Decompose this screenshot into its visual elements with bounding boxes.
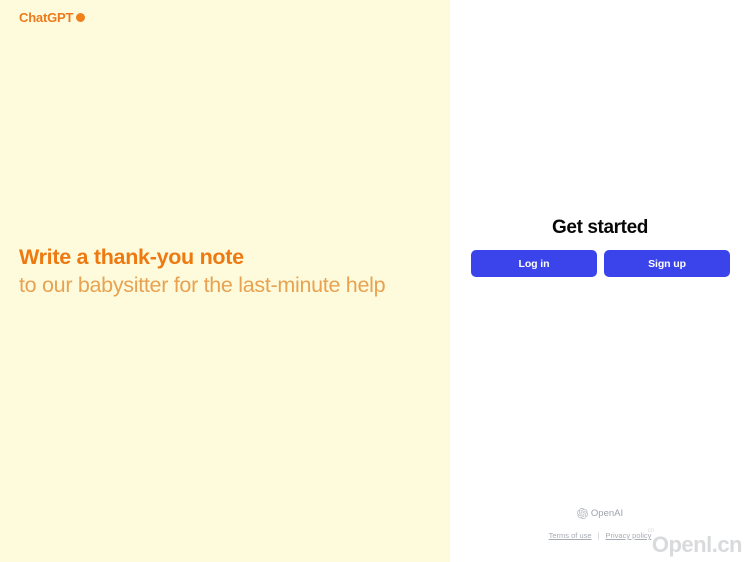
terms-of-use-link[interactable]: Terms of use: [549, 531, 592, 540]
orange-dot-icon: [76, 13, 85, 22]
chatgpt-welcome-screen: ChatGPT Write a thank-you note to our ba…: [0, 0, 750, 562]
chatgpt-wordmark: ChatGPT: [19, 11, 73, 24]
page-title: Get started: [450, 216, 750, 240]
login-button[interactable]: Log in: [471, 250, 597, 277]
legal-links: Terms of use | Privacy policy: [450, 531, 750, 540]
legal-separator: |: [598, 531, 600, 540]
auth-button-group: Log in Sign up: [471, 250, 730, 277]
openai-branding: OpenAI: [450, 508, 750, 519]
privacy-policy-link[interactable]: Privacy policy: [606, 531, 652, 540]
prompt-subtext: to our babysitter for the last-minute he…: [19, 273, 385, 297]
left-promo-panel: ChatGPT Write a thank-you note to our ba…: [0, 0, 450, 562]
openai-logo-icon: [577, 508, 588, 519]
footer: OpenAI Terms of use | Privacy policy: [450, 508, 750, 540]
get-started-section: Get started: [450, 216, 750, 240]
right-auth-panel: Get started Log in Sign up OpenAI Terms …: [450, 0, 750, 562]
prompt-headline: Write a thank-you note: [19, 245, 244, 269]
chatgpt-logo[interactable]: ChatGPT: [19, 11, 85, 24]
example-prompt: Write a thank-you note to our babysitter…: [19, 243, 419, 299]
openai-wordmark: OpenAI: [591, 508, 623, 519]
signup-button[interactable]: Sign up: [604, 250, 730, 277]
